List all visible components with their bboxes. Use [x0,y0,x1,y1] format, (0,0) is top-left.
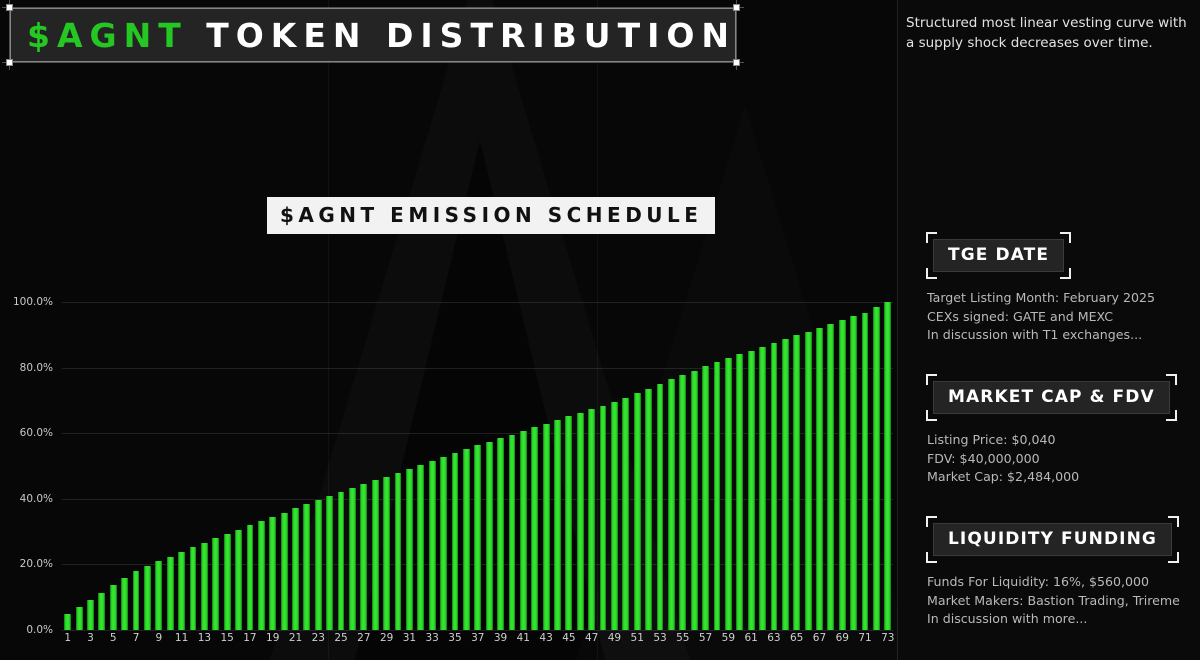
bar-slot [745,302,756,630]
chart-bar[interactable] [247,525,254,630]
chart-bar[interactable] [303,504,310,630]
chart-bar[interactable] [600,406,607,630]
x-axis-tick-label: 25 [334,632,347,644]
x-axis-tick-label: 19 [266,632,279,644]
resize-handle-top-left[interactable] [6,4,13,11]
x-axis-tick-label: 1 [64,632,71,644]
x-axis-tick-label: 65 [790,632,803,644]
x-axis-tick-label: 27 [357,632,370,644]
x-axis-tick-label: 7 [133,632,140,644]
bar-slot [210,302,221,630]
chart-bar[interactable] [679,375,686,630]
bar-slot [130,302,141,630]
page-title-box[interactable]: $AGNT TOKEN DISTRIBUTION [10,8,736,62]
bar-slot [848,302,859,630]
bar-slot [165,302,176,630]
x-axis-slot: 13 [199,632,210,654]
corner-bracket-bl-icon [926,552,937,563]
chart-bar[interactable] [349,488,356,630]
x-axis-slot: 37 [472,632,483,654]
bar-slot [518,302,529,630]
chart-bar[interactable] [155,561,162,630]
x-axis-tick-label: 3 [87,632,94,644]
x-axis-tick-label: 37 [471,632,484,644]
x-axis-slot: 71 [859,632,870,654]
panel-section-line: Funds For Liquidity: 16%, $560,000 [927,573,1196,592]
x-axis-slot: 61 [745,632,756,654]
corner-bracket-tr-icon [1166,374,1177,385]
x-axis-slot: 19 [267,632,278,654]
chart-bar[interactable] [702,366,709,630]
chart-bar[interactable] [121,578,128,630]
chart-bar[interactable] [725,358,732,630]
bar-slot [244,302,255,630]
bar-slot [575,302,586,630]
panel-section-heading-frame: TGE DATE [926,232,1071,279]
panel-section-line: In discussion with T1 exchanges... [927,326,1196,345]
corner-bracket-tr-icon [1060,232,1071,243]
bar-slot [221,302,232,630]
x-axis-tick-label: 51 [631,632,644,644]
x-axis-tick-label: 69 [836,632,849,644]
bar-slot [825,302,836,630]
chart-bar[interactable] [497,438,504,630]
bar-slot [802,302,813,630]
chart-title: $AGNT EMISSION SCHEDULE [280,203,702,227]
panel-section-heading-frame: MARKET CAP & FDV [926,374,1177,421]
chart-bar[interactable] [315,500,322,630]
chart-bar[interactable] [714,362,721,630]
y-axis-tick-label: 0.0% [26,624,53,636]
x-axis-slot: 31 [404,632,415,654]
chart-bar[interactable] [98,593,105,630]
chart-bar[interactable] [588,409,595,630]
bar-slot [483,302,494,630]
bar-slot [347,302,358,630]
panel-section-line: Market Makers: Bastion Trading, Trireme [927,592,1196,611]
chart-bar[interactable] [520,431,527,630]
chart-bar[interactable] [577,413,584,630]
bar-slot [586,302,597,630]
x-axis-slot: 5 [108,632,119,654]
x-axis-tick-label: 15 [220,632,233,644]
x-axis-tick-label: 11 [175,632,188,644]
x-axis-slot [96,632,107,654]
x-axis-slot: 23 [313,632,324,654]
resize-handle-top-right[interactable] [733,4,740,11]
chart-bar[interactable] [406,469,413,630]
chart-title-band: $AGNT EMISSION SCHEDULE [267,197,715,234]
y-axis-tick-label: 40.0% [20,493,53,505]
bar-slot [563,302,574,630]
chart-bar[interactable] [657,384,664,630]
x-axis-slot: 29 [381,632,392,654]
panel-section-heading-frame: LIQUIDITY FUNDING [926,516,1179,563]
bar-slot [666,302,677,630]
x-axis-slot: 59 [723,632,734,654]
bar-slot [882,302,893,630]
x-axis-slot: 35 [449,632,460,654]
corner-bracket-tl-icon [926,232,937,243]
bar-slot [73,302,84,630]
x-axis-slot [73,632,84,654]
bar-slot [199,302,210,630]
x-axis-slot: 21 [290,632,301,654]
bar-slot [677,302,688,630]
bar-slot [495,302,506,630]
x-axis-slot: 11 [176,632,187,654]
corner-bracket-tl-icon [926,374,937,385]
bar-slot [108,302,119,630]
bar-slot [370,302,381,630]
bar-slot [654,302,665,630]
bar-slot [119,302,130,630]
corner-bracket-br-icon [1166,410,1177,421]
bar-slot [233,302,244,630]
panel-section-body: Target Listing Month: February 2025CEXs … [927,289,1196,345]
x-axis-slot: 63 [768,632,779,654]
bar-slot [324,302,335,630]
x-axis-slot [119,632,130,654]
panel-section-line: In discussion with more... [927,610,1196,629]
bar-slot [768,302,779,630]
x-axis-slot: 69 [837,632,848,654]
bar-slot [700,302,711,630]
bar-slot [176,302,187,630]
bar-slot [837,302,848,630]
corner-bracket-bl-icon [926,268,937,279]
chart-bar[interactable] [258,521,265,630]
chart-bar[interactable] [372,480,379,630]
bar-slot [711,302,722,630]
bar-slot [392,302,403,630]
x-axis-slot: 1 [62,632,73,654]
x-axis-slot: 45 [563,632,574,654]
y-axis-tick-label: 60.0% [20,427,53,439]
bar-slot [734,302,745,630]
chart-bar[interactable] [771,343,778,630]
chart-bar[interactable] [759,347,766,630]
bar-slot [688,302,699,630]
chart-bar[interactable] [531,427,538,630]
bar-slot [358,302,369,630]
x-axis-slot [142,632,153,654]
x-axis-tick-label: 17 [243,632,256,644]
bar-slot [757,302,768,630]
x-axis-tick-label: 49 [608,632,621,644]
slide-canvas: $AGNT TOKEN DISTRIBUTION $AGNT EMISSION … [0,0,1200,660]
bar-slot [427,302,438,630]
x-axis-slot: 47 [586,632,597,654]
chart-bar[interactable] [805,332,812,630]
x-axis-slot: 65 [791,632,802,654]
chart-bar[interactable] [873,307,880,630]
corner-bracket-br-icon [1168,552,1179,563]
bar-slot [506,302,517,630]
chart-bar[interactable] [110,585,117,630]
bar-slot [449,302,460,630]
bar-slot [62,302,73,630]
chart-bar[interactable] [201,543,208,630]
x-axis-slot: 55 [677,632,688,654]
panel-section-line: CEXs signed: GATE and MEXC [927,308,1196,327]
chart-bar[interactable] [509,435,516,630]
chart-bar[interactable] [326,496,333,630]
bar-slot [256,302,267,630]
panel-section-heading: MARKET CAP & FDV [933,381,1170,414]
bar-slot [609,302,620,630]
chart-bar[interactable] [793,335,800,630]
bar-slot [381,302,392,630]
panel-section-body: Listing Price: $0,040FDV: $40,000,000Mar… [927,431,1196,487]
panel-section-body: Funds For Liquidity: 16%, $560,000Market… [927,573,1196,629]
x-axis-slot: 67 [814,632,825,654]
chart-bar[interactable] [634,393,641,630]
chart-bar[interactable] [212,538,219,630]
chart-bar[interactable] [452,453,459,630]
bar-slot [301,302,312,630]
bar-slot [461,302,472,630]
bar-slot [643,302,654,630]
panel-section-heading: LIQUIDITY FUNDING [933,523,1172,556]
bar-slot [335,302,346,630]
x-axis-tick-label: 39 [494,632,507,644]
panel-section: MARKET CAP & FDVListing Price: $0,040FDV… [926,374,1196,487]
panel-section: LIQUIDITY FUNDINGFunds For Liquidity: 16… [926,516,1196,629]
corner-bracket-tr-icon [1168,516,1179,527]
bar-slot [278,302,289,630]
corner-bracket-tl-icon [926,516,937,527]
x-axis-slot: 49 [609,632,620,654]
bar-slot [529,302,540,630]
chart-bars [62,302,893,630]
chart-bar[interactable] [338,492,345,630]
bar-slot [620,302,631,630]
chart-bar[interactable] [884,302,891,630]
x-axis-tick-label: 13 [198,632,211,644]
x-axis-slot: 51 [632,632,643,654]
page-title-rest: TOKEN DISTRIBUTION [206,16,736,55]
x-axis-tick-label: 41 [517,632,530,644]
chart-bar[interactable] [850,316,857,630]
chart-bar[interactable] [133,571,140,630]
chart-bar[interactable] [554,420,561,630]
x-axis-tick-label: 67 [813,632,826,644]
chart-bar[interactable] [622,398,629,630]
panel-section-line: Market Cap: $2,484,000 [927,468,1196,487]
bar-slot [313,302,324,630]
chart-bar[interactable] [862,313,869,631]
x-axis-tick-label: 23 [312,632,325,644]
x-axis-tick-label: 47 [585,632,598,644]
x-axis-slot: 33 [427,632,438,654]
panel-section-heading: TGE DATE [933,239,1064,272]
chart-gridline: 0.0% [62,630,893,631]
x-axis-tick-label: 63 [767,632,780,644]
corner-bracket-bl-icon [926,410,937,421]
bar-slot [814,302,825,630]
chart-bar[interactable] [417,465,424,630]
bar-slot [552,302,563,630]
chart-bar[interactable] [839,320,846,630]
chart-bar[interactable] [235,530,242,630]
bar-slot [472,302,483,630]
x-axis-tick-label: 55 [676,632,689,644]
bar-slot [187,302,198,630]
resize-handle-bottom-right[interactable] [733,59,740,66]
bar-slot [404,302,415,630]
chart-bar[interactable] [360,484,367,630]
bar-slot [780,302,791,630]
page-title-ticker: $AGNT [27,16,188,55]
x-axis-tick-label: 35 [448,632,461,644]
chart-bar[interactable] [816,328,823,630]
bar-slot [871,302,882,630]
x-axis-tick-label: 5 [110,632,117,644]
x-axis-tick-label: 9 [155,632,162,644]
x-axis-slot: 15 [221,632,232,654]
y-axis-tick-label: 100.0% [13,296,53,308]
x-axis-tick-label: 53 [653,632,666,644]
bar-slot [153,302,164,630]
chart-bar[interactable] [736,354,743,630]
chart-plot-area: 0.0%20.0%40.0%60.0%80.0%100.0% [62,302,893,630]
x-axis-tick-label: 33 [426,632,439,644]
bar-slot [597,302,608,630]
bar-slot [632,302,643,630]
slide-title-selection[interactable]: $AGNT TOKEN DISTRIBUTION [10,8,736,62]
chart-bar[interactable] [395,473,402,630]
x-axis-slot: 53 [654,632,665,654]
chart-bar[interactable] [178,552,185,630]
chart-bar[interactable] [782,339,789,630]
x-axis-slot: 17 [244,632,255,654]
x-axis-slot: 25 [335,632,346,654]
panel-section-line: Target Listing Month: February 2025 [927,289,1196,308]
x-axis-slot: 27 [358,632,369,654]
chart-bar[interactable] [486,442,493,630]
chart-bar[interactable] [463,449,470,630]
x-axis-tick-label: 31 [403,632,416,644]
chart-bar[interactable] [87,600,94,630]
x-axis-slot: 39 [495,632,506,654]
resize-handle-bottom-left[interactable] [6,59,13,66]
chart-bar[interactable] [645,389,652,630]
selection-guide-bottom [2,62,744,63]
bar-slot [540,302,551,630]
chart-bar[interactable] [429,461,436,630]
chart-bar[interactable] [224,534,231,630]
chart-bar[interactable] [76,607,83,630]
x-axis-slot: 3 [85,632,96,654]
x-axis-slot: 41 [518,632,529,654]
corner-bracket-br-icon [1060,268,1071,279]
bar-slot [142,302,153,630]
x-axis-slot: 57 [700,632,711,654]
chart-bar[interactable] [691,371,698,630]
x-axis-tick-label: 57 [699,632,712,644]
x-axis-tick-label: 61 [744,632,757,644]
chart-bar[interactable] [292,508,299,630]
bar-slot [85,302,96,630]
chart-bar[interactable] [269,517,276,630]
y-axis-tick-label: 80.0% [20,362,53,374]
x-axis-tick-label: 29 [380,632,393,644]
x-axis-tick-label: 73 [881,632,894,644]
chart-bar[interactable] [281,513,288,630]
x-axis-slot: 7 [130,632,141,654]
bar-slot [415,302,426,630]
x-axis-tick-label: 71 [858,632,871,644]
chart-bar[interactable] [383,477,390,631]
panel-section-line: Listing Price: $0,040 [927,431,1196,450]
page-title: $AGNT TOKEN DISTRIBUTION [27,16,736,55]
x-axis-slot: 73 [882,632,893,654]
x-axis-slot: 43 [540,632,551,654]
bar-slot [723,302,734,630]
bar-slot [290,302,301,630]
chart-bar[interactable] [64,614,71,630]
chart-bar[interactable] [543,424,550,630]
x-axis-tick-label: 45 [562,632,575,644]
bar-slot [96,302,107,630]
chart-bar[interactable] [440,457,447,630]
chart-bar[interactable] [668,379,675,630]
panel-section: TGE DATETarget Listing Month: February 2… [926,232,1196,345]
bar-slot [791,302,802,630]
bar-slot [267,302,278,630]
x-axis-slot: 9 [153,632,164,654]
chart-bar[interactable] [827,324,834,630]
chart-bar[interactable] [144,566,151,630]
chart-bar[interactable] [748,351,755,630]
chart-bar[interactable] [565,416,572,630]
x-axis-tick-label: 21 [289,632,302,644]
chart-x-axis: 1357911131517192123252729313335373941434… [62,632,893,654]
chart-bar[interactable] [167,557,174,630]
y-axis-tick-label: 20.0% [20,558,53,570]
panel-section-line: FDV: $40,000,000 [927,450,1196,469]
x-axis-tick-label: 59 [722,632,735,644]
bar-slot [438,302,449,630]
x-axis-tick-label: 43 [539,632,552,644]
chart-bar[interactable] [474,445,481,630]
info-side-panel: Structured most linear vesting curve wit… [898,0,1200,660]
chart-bar[interactable] [611,402,618,630]
chart-bar[interactable] [190,547,197,630]
panel-intro-text: Structured most linear vesting curve wit… [906,13,1194,53]
bar-slot [859,302,870,630]
